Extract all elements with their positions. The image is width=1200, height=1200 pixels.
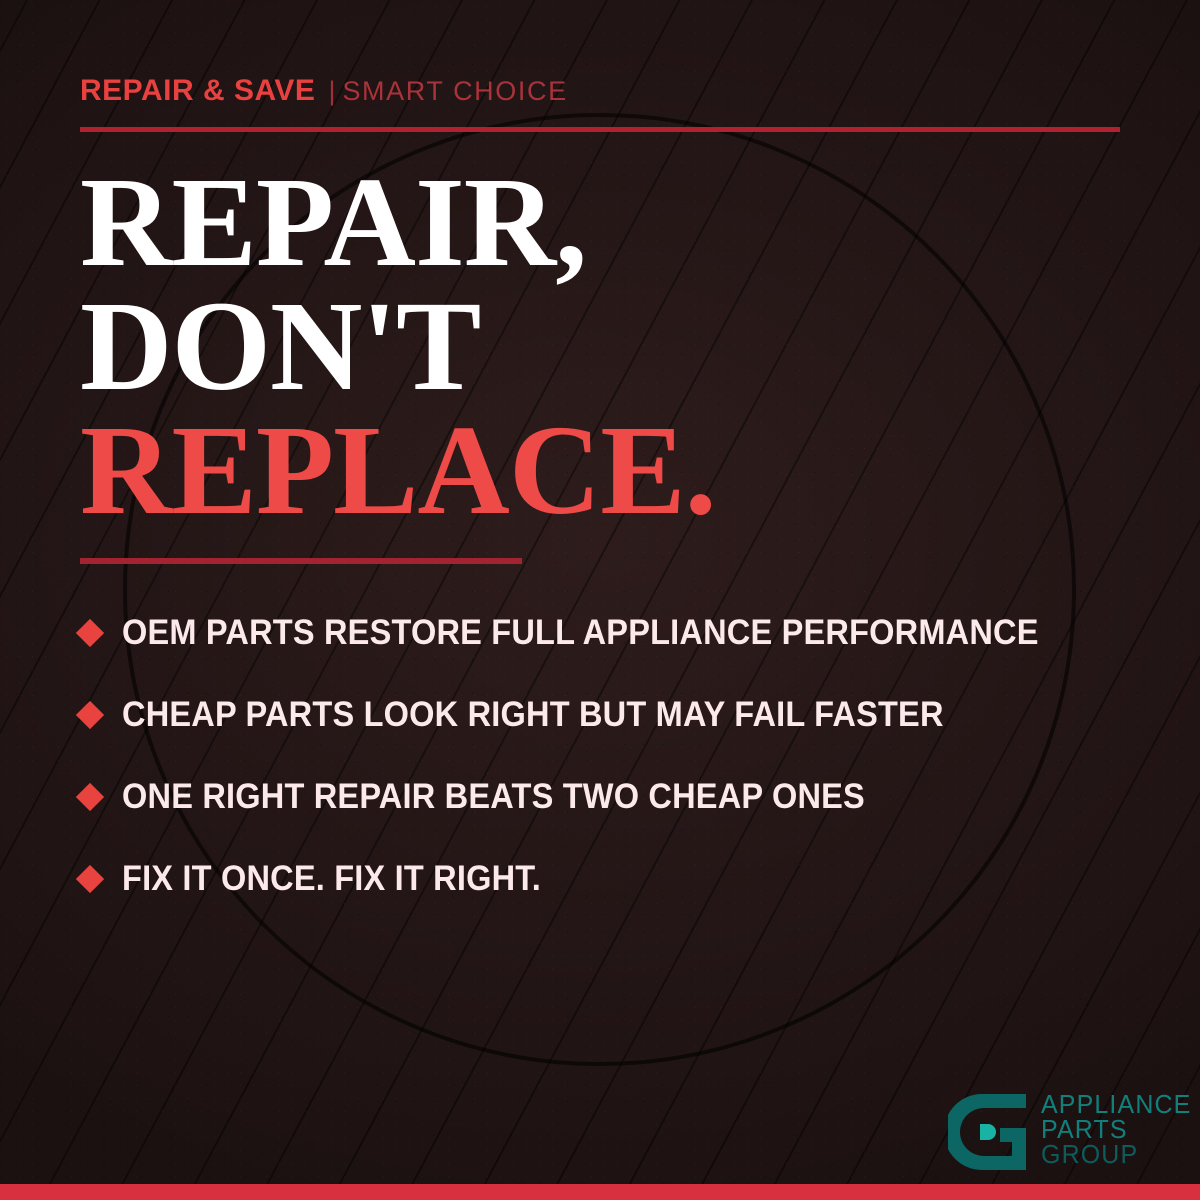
diamond-icon (76, 701, 104, 729)
list-item-label: OEM PARTS RESTORE FULL APPLIANCE PERFORM… (122, 613, 1039, 653)
list-item: ONE RIGHT REPAIR BEATS TWO CHEAP ONES (80, 756, 1150, 838)
eyebrow-banner: REPAIR & SAVE | SMART CHOICE (80, 74, 568, 108)
list-item: CHEAP PARTS LOOK RIGHT BUT MAY FAIL FAST… (80, 674, 1150, 756)
eyebrow-separator: | (328, 76, 335, 107)
eyebrow-main-text: REPAIR & SAVE (80, 74, 315, 108)
headline-line-2: DON'T (80, 284, 1140, 408)
list-item: OEM PARTS RESTORE FULL APPLIANCE PERFORM… (80, 592, 1150, 674)
headline-line-1: REPAIR, (80, 160, 1140, 284)
diamond-icon (76, 619, 104, 647)
page-title: REPAIR, DON'T REPLACE. (80, 160, 1140, 532)
brand-wordmark: APPLIANCE PARTS GROUP (1041, 1092, 1198, 1168)
diamond-icon (76, 783, 104, 811)
letter-g-mark-icon (948, 1092, 1028, 1172)
eyebrow-sub-text: SMART CHOICE (342, 76, 567, 107)
list-item: FIX IT ONCE. FIX IT RIGHT. (80, 838, 1150, 920)
header-divider-rule (80, 127, 1120, 132)
list-item-label: ONE RIGHT REPAIR BEATS TWO CHEAP ONES (122, 777, 865, 817)
brand-logo: APPLIANCE PARTS GROUP (948, 1092, 1198, 1172)
list-item-label: CHEAP PARTS LOOK RIGHT BUT MAY FAIL FAST… (122, 695, 944, 735)
headline-line-3: REPLACE. (80, 408, 1140, 532)
list-item-label: FIX IT ONCE. FIX IT RIGHT. (122, 859, 541, 899)
diamond-icon (76, 865, 104, 893)
bottom-accent-bar (0, 1184, 1200, 1200)
benefit-list: OEM PARTS RESTORE FULL APPLIANCE PERFORM… (80, 592, 1150, 920)
brand-word-group: GROUP (1041, 1142, 1191, 1167)
promo-poster: REPAIR & SAVE | SMART CHOICE REPAIR, DON… (0, 0, 1200, 1200)
headline-divider-rule (80, 558, 522, 564)
